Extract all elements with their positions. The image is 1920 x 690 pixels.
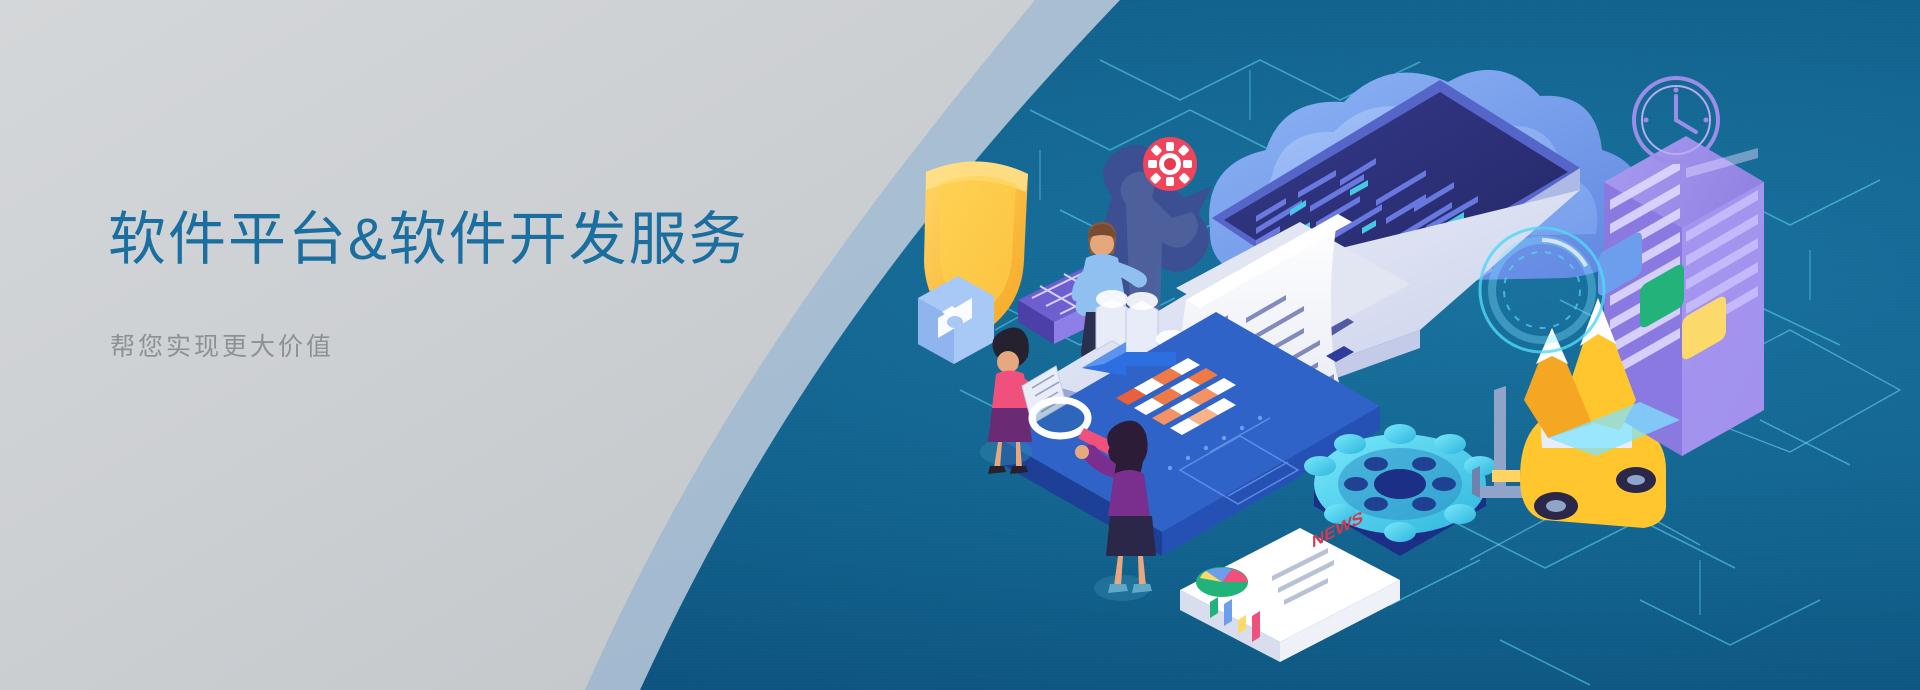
clock-icon bbox=[1634, 78, 1718, 162]
banner-text-block: 软件平台&软件开发服务 帮您实现更大价值 bbox=[108, 208, 749, 363]
hero-banner: NEWS 软件平 bbox=[0, 0, 1920, 690]
gear-badge-icon bbox=[1143, 137, 1197, 191]
page-subtitle: 帮您实现更大价值 bbox=[110, 327, 749, 363]
pie-chart-icon bbox=[1196, 567, 1248, 597]
page-title: 软件平台&软件开发服务 bbox=[108, 208, 749, 273]
isometric-illustration: NEWS bbox=[880, 0, 1920, 690]
